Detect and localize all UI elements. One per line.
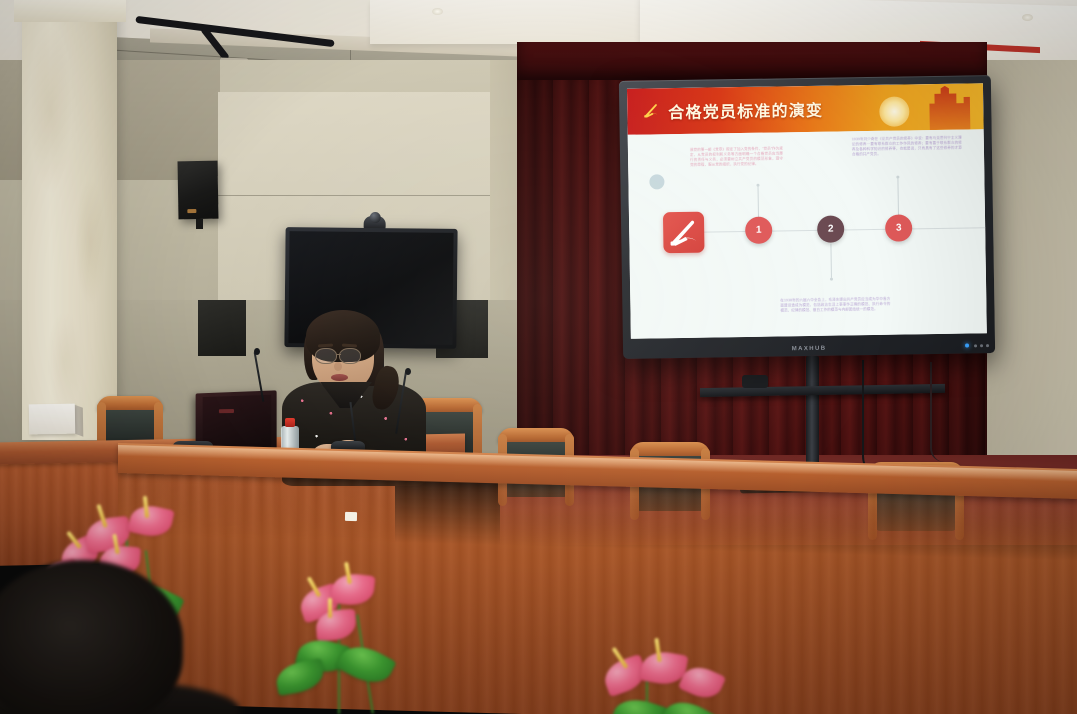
wall-equipment-box xyxy=(198,300,246,356)
flower-arrangement-right xyxy=(586,642,766,714)
timeline-stem-dot xyxy=(830,278,833,281)
flower-petal xyxy=(330,572,375,607)
slide-text-block-right: 1939年刘少奇在《论共产党员的修养》中说：要有马克思列宁主义理论的修养···要… xyxy=(852,136,962,158)
ceiling-light xyxy=(432,8,443,15)
timeline-stem-dot xyxy=(756,184,759,187)
column-capital xyxy=(14,0,126,22)
slide-title: 合格党员标准的演变 xyxy=(668,97,823,123)
slide-decor-circle xyxy=(649,174,664,189)
shelf-equipment xyxy=(742,375,768,388)
laptop-screen[interactable] xyxy=(203,395,272,448)
name-card xyxy=(29,404,76,435)
timeline-party-emblem-icon xyxy=(663,212,705,254)
display-brand-label: MAXHUB xyxy=(792,346,827,353)
party-emblem-icon xyxy=(640,99,662,121)
bottle-cap xyxy=(285,418,295,427)
timeline-stem-dot xyxy=(896,176,899,179)
timeline-stem xyxy=(758,187,760,219)
flower-leaf xyxy=(274,658,326,696)
tiananmen-silhouette-icon xyxy=(925,85,978,130)
display-buttons[interactable] xyxy=(974,344,989,347)
desk-label-tag xyxy=(345,512,357,521)
slide-header: 合格党员标准的演变 xyxy=(627,83,984,135)
ceiling-light xyxy=(1022,14,1033,21)
far-right-wall xyxy=(985,60,1077,490)
glasses-bridge xyxy=(336,354,341,355)
timeline-node-2: 2 xyxy=(817,215,844,242)
curtain-valance xyxy=(517,42,987,80)
presenter-mouth xyxy=(331,374,348,381)
marble-column xyxy=(22,0,117,440)
timeline-node-1: 1 xyxy=(745,217,772,244)
slide-body: 我党的第一部《党章》规定了加入党的条件，"党员"作为规定，从党员的权利和义务等方… xyxy=(628,129,987,339)
slide-text-block-left: 我党的第一部《党章》规定了加入党的条件，"党员"作为规定，从党员的权利和义务等方… xyxy=(690,146,783,168)
speaker-bracket xyxy=(196,219,203,229)
timeline-stem xyxy=(830,244,832,278)
timeline-node-label: 3 xyxy=(896,223,902,234)
glasses-icon xyxy=(339,348,361,364)
microphone-head xyxy=(254,348,260,355)
marble-veining xyxy=(22,0,117,440)
glasses-icon xyxy=(315,348,337,364)
timeline-node-label: 1 xyxy=(756,225,762,236)
presenter-nose xyxy=(334,362,342,371)
name-card-text xyxy=(38,408,45,426)
presentation-slide: 合格党员标准的演变 我党的第一部《党章》规定了加入党的条件，"党员"作为规定，从… xyxy=(627,83,987,339)
timeline-node-3: 3 xyxy=(885,214,912,241)
power-led-indicator xyxy=(965,343,969,347)
timeline-node-label: 2 xyxy=(828,224,834,235)
wall-panel-seam xyxy=(218,195,518,196)
conference-room-photo: 合格党员标准的演变 我党的第一部《党章》规定了加入党的条件，"党员"作为规定，从… xyxy=(0,0,1077,714)
display-cable xyxy=(930,362,944,462)
microphone-head xyxy=(405,368,411,375)
display-screen[interactable]: 合格党员标准的演变 我党的第一部《党章》规定了加入党的条件，"党员"作为规定，从… xyxy=(627,83,987,339)
display-bezel: 合格党员标准的演变 我党的第一部《党章》规定了加入党的条件，"党员"作为规定，从… xyxy=(619,75,995,359)
flower-petal xyxy=(127,502,174,540)
smart-display[interactable]: 合格党员标准的演变 我党的第一部《党章》规定了加入党的条件，"党员"作为规定，从… xyxy=(619,75,995,359)
laptop-logo xyxy=(219,409,234,413)
loudspeaker xyxy=(177,161,218,220)
flower-spadix xyxy=(328,598,332,618)
sunrise-icon xyxy=(879,96,909,126)
timeline-stem xyxy=(897,179,899,217)
flower-arrangement-middle xyxy=(278,570,448,714)
speaker-badge xyxy=(187,209,196,213)
slide-text-block-bottom: 在1938年的六届六中全会上，毛泽东提出共产党员应当成为华中各方面建设造成为模范… xyxy=(780,297,890,314)
flower-leaf xyxy=(610,693,669,714)
